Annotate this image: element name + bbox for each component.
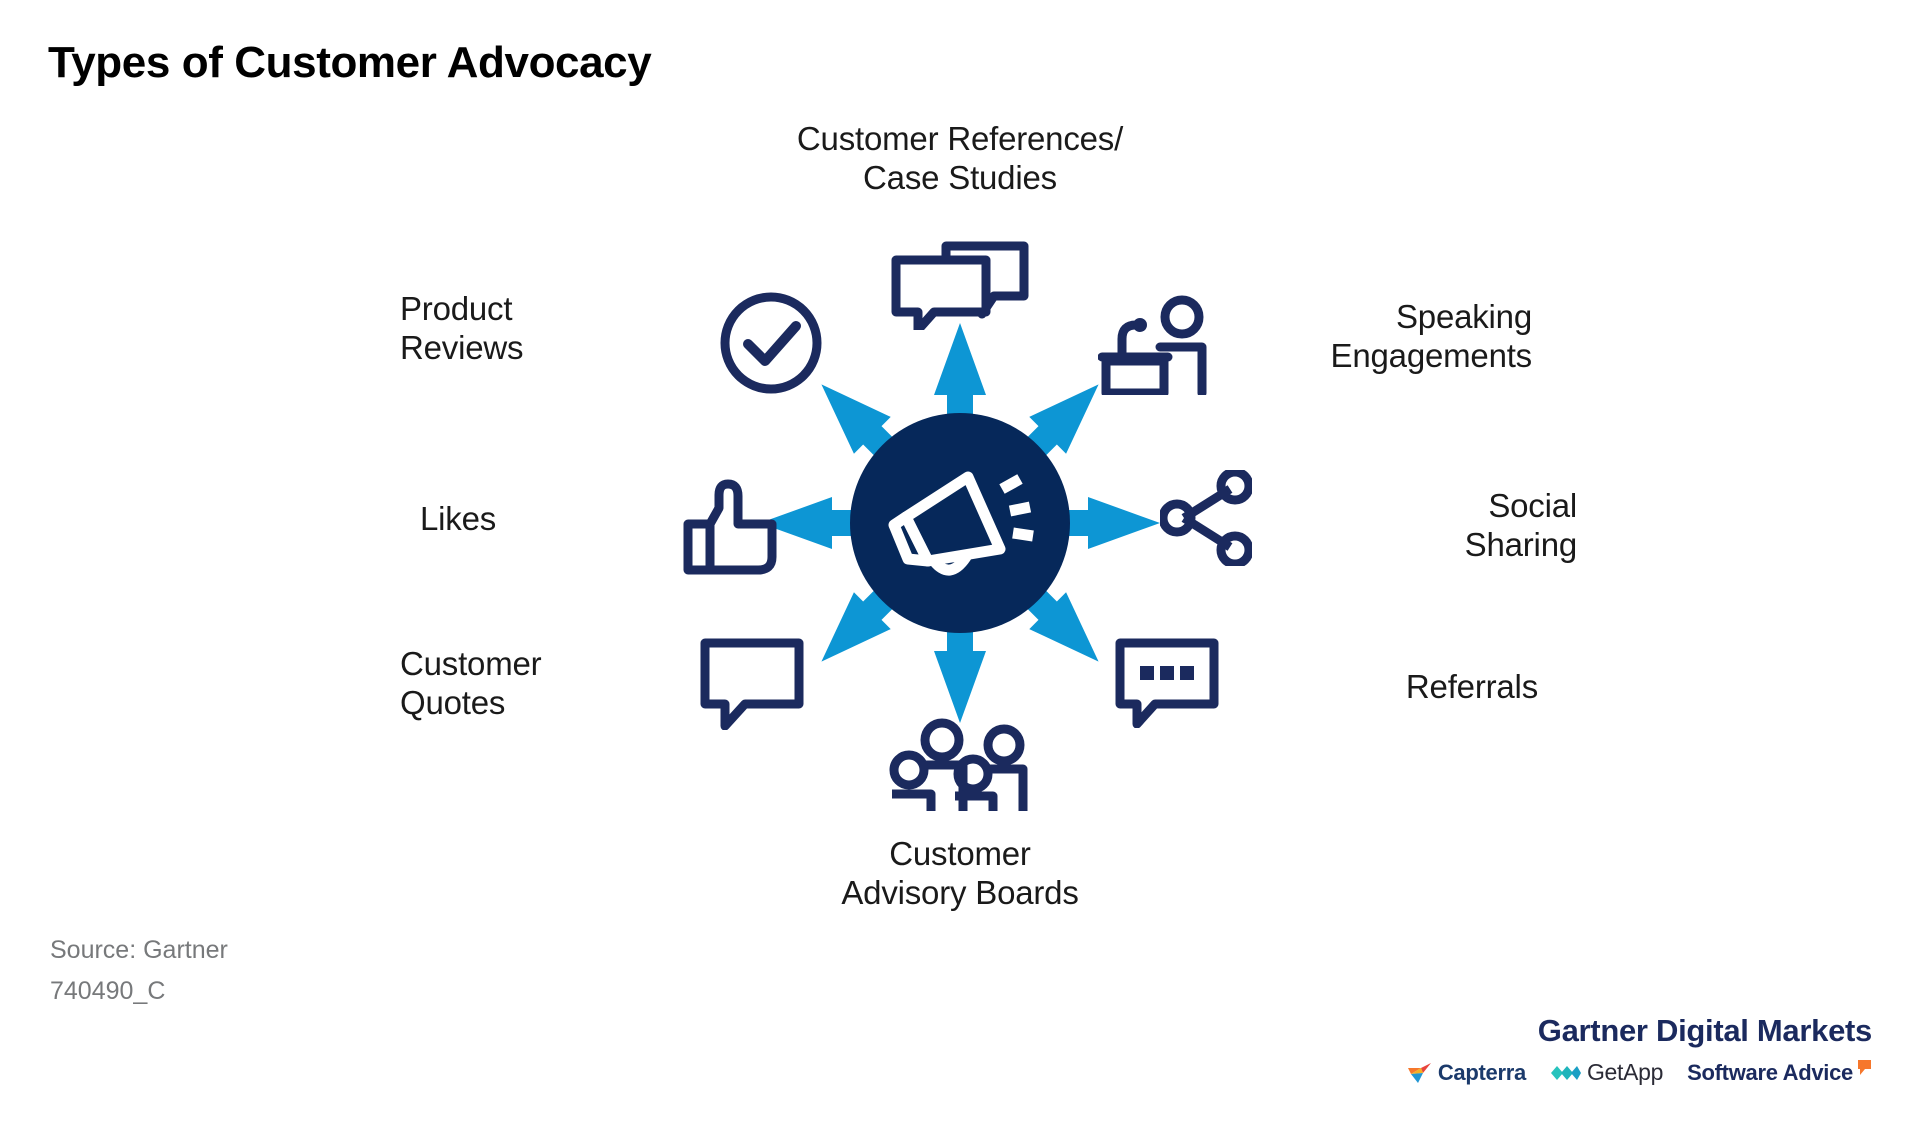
- label-customer-advisory-boards: Customer Advisory Boards: [660, 835, 1260, 913]
- megaphone-icon: [850, 413, 1070, 633]
- label-speaking-engagements: Speaking Engagements: [1232, 298, 1532, 376]
- brand-title: Gartner Digital Markets: [1407, 1013, 1872, 1049]
- software-advice-logo: Software Advice: [1687, 1060, 1872, 1086]
- two-speech-bubbles-icon: [890, 240, 1030, 330]
- label-customer-references: Customer References/ Case Studies: [660, 120, 1260, 198]
- brand-block: Gartner Digital Markets Capterra GetApp …: [1407, 1013, 1872, 1086]
- brand-logos: Capterra GetApp Software Advice: [1407, 1059, 1872, 1086]
- getapp-chevrons-icon: [1550, 1064, 1582, 1082]
- thumbs-up-icon: [680, 472, 784, 576]
- speech-bubble-icon: [700, 638, 804, 730]
- label-referrals: Referrals: [1238, 668, 1538, 707]
- people-group-icon: [885, 718, 1040, 813]
- source-line: Source: Gartner: [50, 930, 228, 971]
- software-advice-label: Software Advice: [1687, 1060, 1853, 1086]
- podium-speaker-icon: [1098, 295, 1218, 395]
- getapp-label: GetApp: [1587, 1059, 1663, 1086]
- speech-bubble-dots-icon: [1115, 638, 1219, 728]
- doc-id-line: 740490_C: [50, 971, 228, 1012]
- capterra-plane-icon: [1407, 1061, 1433, 1085]
- source-block: Source: Gartner 740490_C: [50, 930, 228, 1013]
- label-likes: Likes: [420, 500, 650, 539]
- share-nodes-icon: [1160, 470, 1252, 566]
- software-advice-bubble-icon: [1858, 1060, 1872, 1076]
- getapp-logo: GetApp: [1550, 1059, 1663, 1086]
- label-social-sharing: Social Sharing: [1277, 487, 1577, 565]
- label-product-reviews: Product Reviews: [400, 290, 700, 368]
- capterra-label: Capterra: [1438, 1060, 1526, 1086]
- advocacy-hub-diagram: Customer References/ Case Studies Speaki…: [0, 0, 1920, 1126]
- capterra-logo: Capterra: [1407, 1060, 1526, 1086]
- label-customer-quotes: Customer Quotes: [400, 645, 690, 723]
- check-circle-icon: [718, 290, 824, 396]
